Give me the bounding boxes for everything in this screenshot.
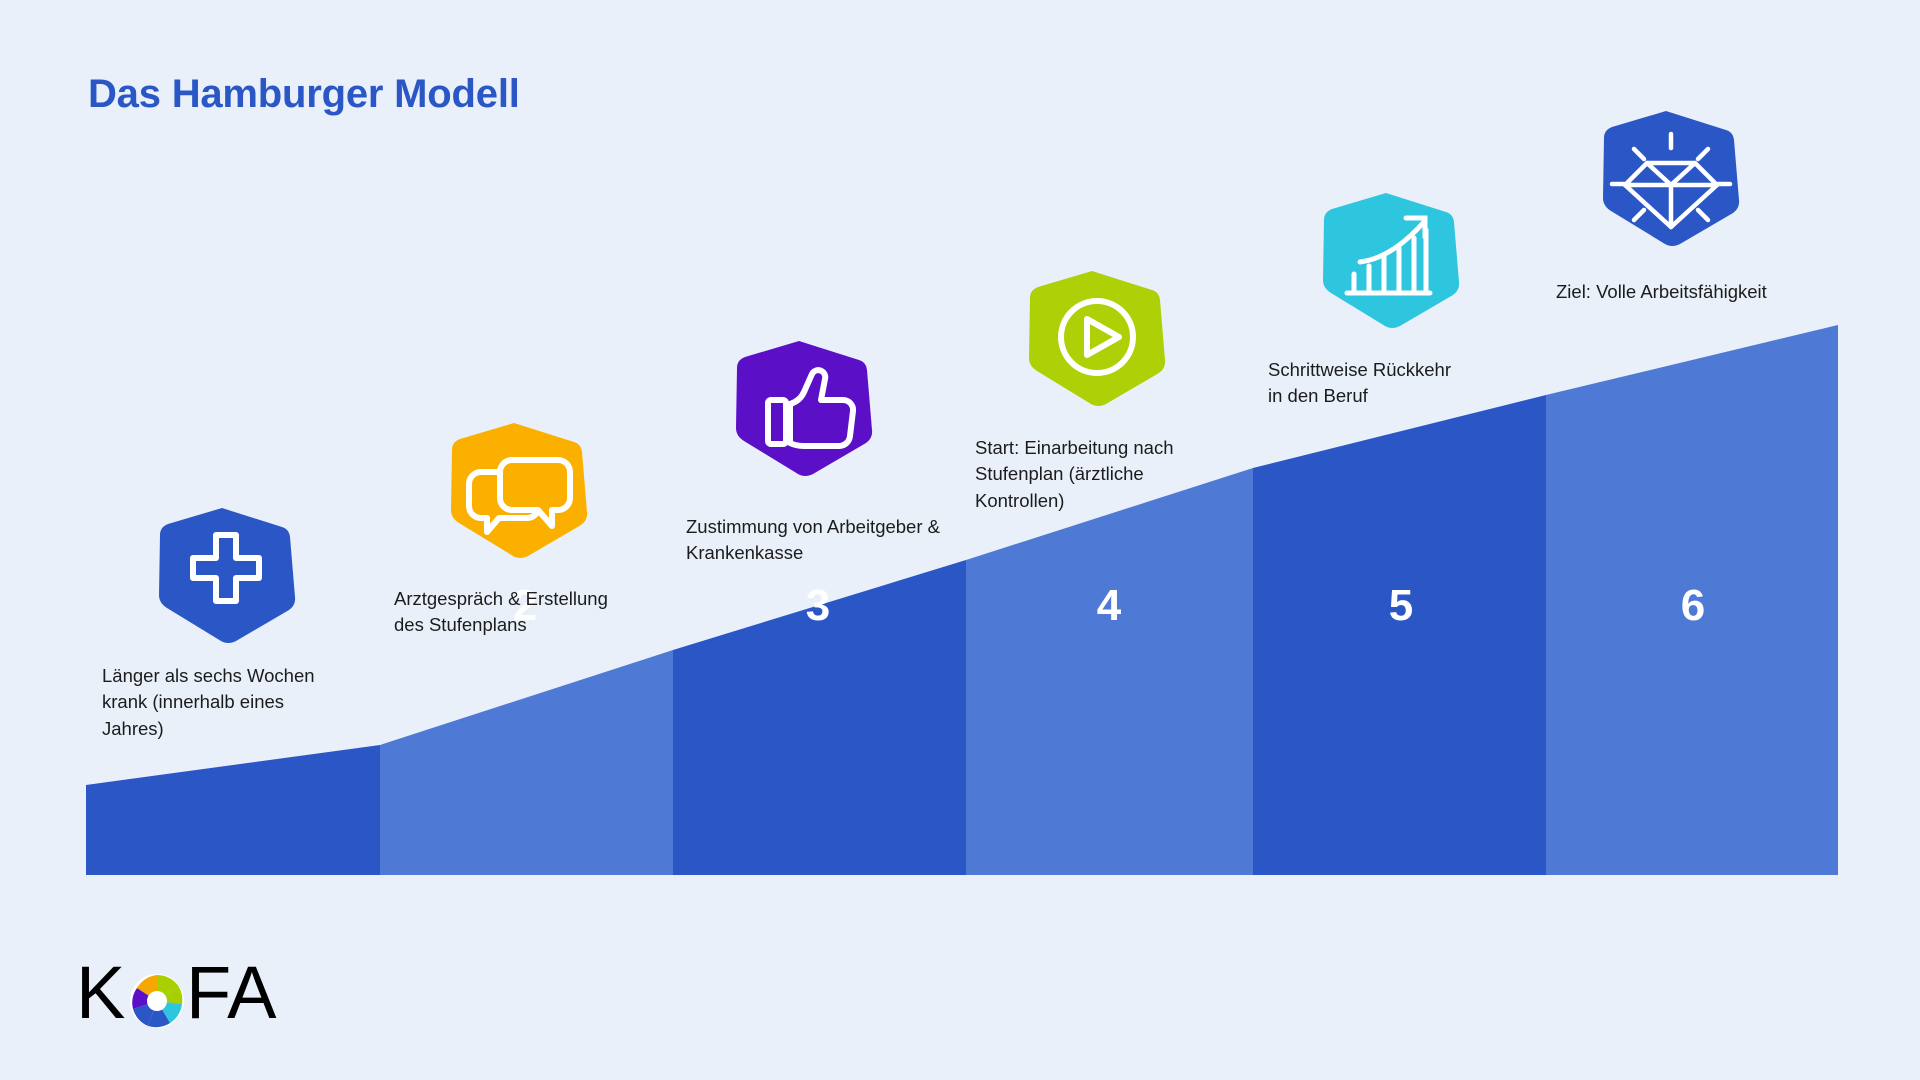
play-button-icon [1026, 268, 1166, 408]
kofa-aperture-icon [130, 974, 184, 1028]
caption-step-1: Länger als sechs Wochen krank (innerhalb… [102, 663, 327, 742]
icon-badge-step-6 [1600, 108, 1740, 248]
caption-step-5: Schrittweise Rückkehr in den Beruf [1268, 357, 1468, 410]
step-number-5: 5 [1341, 584, 1461, 628]
step-number-4: 4 [1049, 584, 1169, 628]
page-title: Das Hamburger Modell [88, 72, 520, 117]
chat-bubbles-icon [448, 420, 588, 560]
growth-chart-icon [1320, 190, 1460, 330]
bar-step-2 [380, 650, 673, 875]
thumbs-up-icon [733, 338, 873, 478]
caption-step-2: Arztgespräch & Erstellung des Stufenplan… [394, 586, 629, 639]
bar-step-1 [86, 745, 380, 875]
icon-badge-step-2 [448, 420, 588, 560]
diamond-shine-icon [1600, 108, 1740, 248]
kofa-logo-letter-k: K [76, 958, 125, 1030]
bar-step-5 [1253, 395, 1546, 875]
step-number-3: 3 [758, 584, 878, 628]
caption-step-6: Ziel: Volle Arbeitsfähigkeit [1556, 279, 1816, 305]
caption-step-4: Start: Einarbeitung nach Stufenplan (ärz… [975, 435, 1185, 514]
icon-badge-step-4 [1026, 268, 1166, 408]
kofa-logo: K FA [76, 958, 286, 1030]
bar-step-4 [966, 468, 1253, 875]
step-number-6: 6 [1633, 584, 1753, 628]
kofa-logo-mark: K FA [76, 958, 286, 1030]
medical-cross-icon [156, 505, 296, 645]
icon-badge-step-5 [1320, 190, 1460, 330]
caption-step-3: Zustimmung von Arbeitgeber & Krankenkass… [686, 514, 951, 567]
kofa-logo-letters-fa: FA [186, 958, 277, 1030]
icon-badge-step-3 [733, 338, 873, 478]
infographic-canvas: Das Hamburger Modell 1 2 3 4 5 6 [0, 0, 1920, 1080]
icon-badge-step-1 [156, 505, 296, 645]
